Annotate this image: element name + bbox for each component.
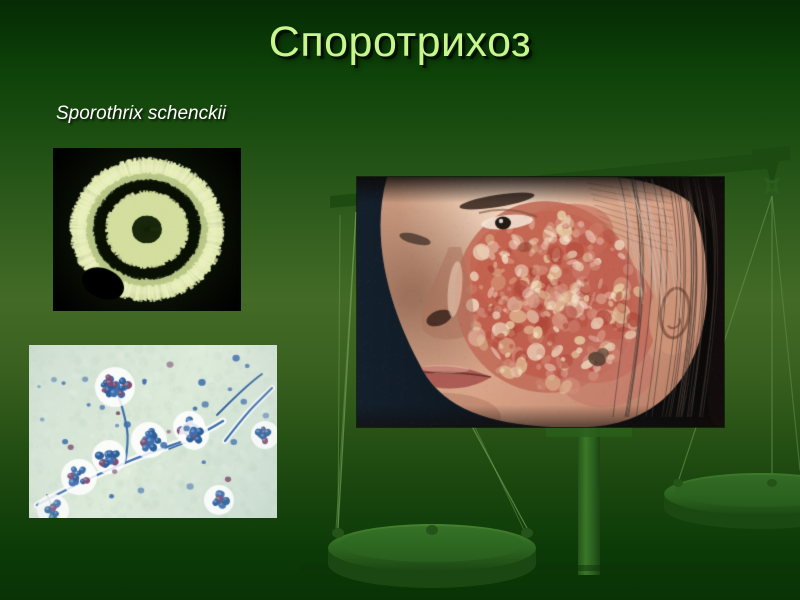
figure-colony-culture [53, 148, 241, 311]
microscopy-image [29, 345, 277, 518]
figure-clinical-lesion [357, 177, 724, 427]
slide-canvas: Споротрихоз Sporothrix schenckii [0, 0, 800, 600]
slide-title: Споротрихоз [0, 18, 800, 67]
colony-culture-image [53, 148, 241, 311]
organism-latin-name: Sporothrix schenckii [56, 103, 226, 125]
figure-microscopy [29, 345, 277, 518]
clinical-facial-lesion-image [357, 177, 724, 427]
